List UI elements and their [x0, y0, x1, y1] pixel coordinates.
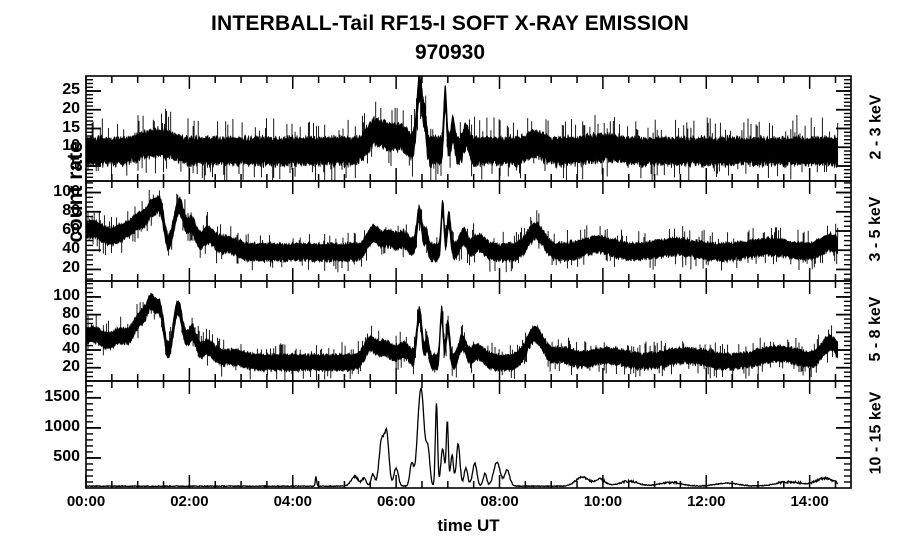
series-band — [86, 76, 838, 168]
y-tick-label: 25 — [20, 81, 80, 99]
y-tick-label: 10 — [20, 137, 80, 155]
y-tick-label: 1500 — [20, 388, 80, 406]
y-tick-label: 100 — [20, 287, 80, 305]
panel-3-5-kev — [86, 181, 851, 281]
x-tick-label: 00:00 — [51, 493, 121, 510]
x-tick-label: 14:00 — [775, 493, 845, 510]
y-tick-label: 40 — [20, 240, 80, 258]
y-tick-label: 500 — [20, 448, 80, 466]
panel-5-8-kev — [86, 281, 851, 381]
x-tick-label: 06:00 — [361, 493, 431, 510]
y-tick-label: 100 — [20, 183, 80, 201]
panel-right-label: 3 - 5 keV — [867, 179, 885, 279]
panel-right-label: 10 - 15 keV — [867, 379, 885, 486]
x-axis-title: time UT — [369, 516, 569, 536]
chart-canvas — [0, 0, 900, 548]
y-tick-label: 15 — [20, 119, 80, 137]
panel-right-label: 2 - 3 keV — [867, 74, 885, 179]
x-tick-label: 12:00 — [671, 493, 741, 510]
y-tick-label: 20 — [20, 100, 80, 118]
y-tick-label: 20 — [20, 358, 80, 376]
x-tick-label: 08:00 — [465, 493, 535, 510]
x-tick-label: 02:00 — [154, 493, 224, 510]
x-tick-label: 10:00 — [568, 493, 638, 510]
y-tick-label: 40 — [20, 340, 80, 358]
y-tick-label: 1000 — [20, 418, 80, 436]
y-tick-label: 80 — [20, 305, 80, 323]
y-tick-label: 20 — [20, 259, 80, 277]
y-tick-label: 60 — [20, 221, 80, 239]
y-tick-label: 5 — [20, 156, 80, 174]
panel-10-15-kev — [86, 381, 851, 488]
series-line — [86, 388, 838, 487]
y-tick-label: 60 — [20, 322, 80, 340]
x-tick-label: 04:00 — [258, 493, 328, 510]
y-tick-label: 80 — [20, 202, 80, 220]
panel-2-3-kev — [86, 76, 851, 181]
panel-right-label: 5 - 8 keV — [867, 279, 885, 379]
